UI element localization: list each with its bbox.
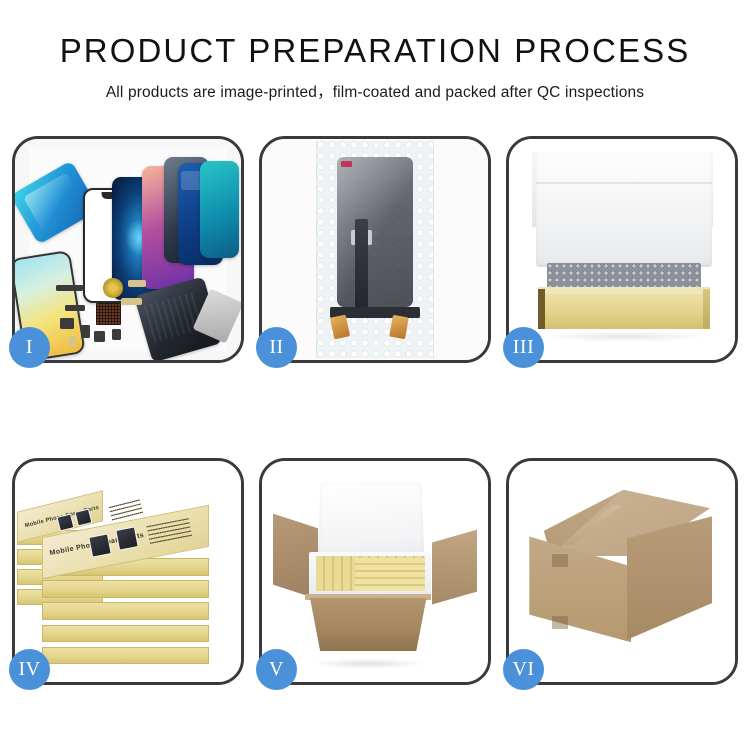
stacked-box xyxy=(42,625,209,643)
step-badge-5: V xyxy=(256,649,297,690)
step-badge-2: II xyxy=(256,327,297,368)
step-badge-6: VI xyxy=(503,649,544,690)
phone-teal-display xyxy=(200,161,238,258)
step-image-6 xyxy=(509,461,735,682)
page-title: PRODUCT PREPARATION PROCESS xyxy=(0,34,750,69)
step-image-4: Mobile Phone Spare Parts Mobile Phone Sp… xyxy=(15,461,241,682)
gold-box-edge-left xyxy=(538,289,545,329)
stacked-box xyxy=(42,647,209,665)
page-subtitle: All products are image-printed，film-coat… xyxy=(0,80,750,102)
screen-assembly xyxy=(337,157,414,307)
connector-grid-chip xyxy=(96,303,121,325)
step-panel-1[interactable]: I xyxy=(12,136,244,363)
red-label-sticker xyxy=(341,161,352,167)
carton-flap-right xyxy=(432,530,477,605)
stacked-box xyxy=(42,602,209,620)
flex-cable-2 xyxy=(121,298,141,305)
small-part-speaker xyxy=(94,331,105,342)
gold-inner-box xyxy=(538,294,710,329)
step-image-3 xyxy=(509,139,735,360)
step-image-5 xyxy=(262,461,488,682)
drop-shadow xyxy=(312,658,425,669)
carton-handle-cutout-top xyxy=(552,554,568,567)
step-panel-5[interactable]: V xyxy=(259,458,491,685)
step-panel-6[interactable]: VI xyxy=(506,458,738,685)
small-part-button xyxy=(81,325,90,338)
step-badge-4: IV xyxy=(9,649,50,690)
box-lcd-image xyxy=(115,527,139,551)
flex-cable-1 xyxy=(128,280,146,287)
drop-shadow xyxy=(541,331,708,342)
step-panel-3[interactable]: III xyxy=(506,136,738,363)
small-part-camera xyxy=(112,329,121,340)
gold-box-edge-right xyxy=(703,289,710,329)
step-image-2 xyxy=(262,139,488,360)
carton-body xyxy=(305,598,432,651)
step-panel-2[interactable]: II xyxy=(259,136,491,363)
step-badge-1: I xyxy=(9,327,50,368)
step-panel-4[interactable]: Mobile Phone Spare Parts Mobile Phone Sp… xyxy=(12,458,244,685)
gold-box-stack: Mobile Phone Spare Parts Mobile Phone Sp… xyxy=(15,461,241,682)
small-part-flex xyxy=(65,305,85,312)
process-steps-grid: I II III xyxy=(12,136,738,685)
white-foam-lid xyxy=(536,152,712,267)
gold-boxes-row-2 xyxy=(355,558,425,591)
ribbon-cable xyxy=(355,219,369,312)
step-badge-3: III xyxy=(503,327,544,368)
step-image-1 xyxy=(15,139,241,360)
box-lcd-image xyxy=(88,533,112,557)
small-part-strip xyxy=(56,285,83,292)
page-header: PRODUCT PREPARATION PROCESS All products… xyxy=(0,0,750,102)
flex-cable-3 xyxy=(69,336,76,347)
small-part-block xyxy=(60,318,74,329)
carton-handle-cutout-bottom xyxy=(552,616,568,629)
foam-lid-open xyxy=(317,482,424,561)
stacked-box xyxy=(42,580,209,598)
